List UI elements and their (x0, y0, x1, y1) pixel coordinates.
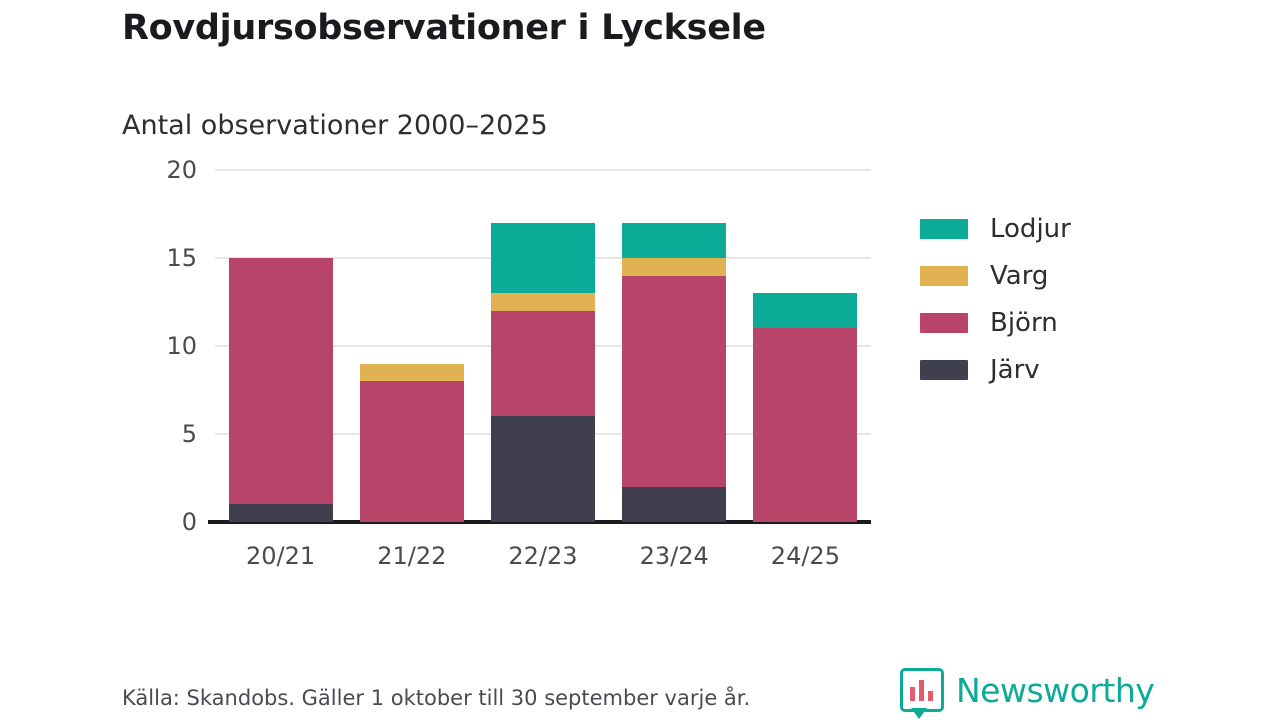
bar-segment[interactable] (229, 504, 333, 522)
bar-segment[interactable] (622, 258, 726, 276)
chart-subtitle: Antal observationer 2000–2025 (122, 110, 548, 141)
legend-item[interactable]: Lodjur (920, 205, 1220, 252)
x-axis-tick-label: 24/25 (735, 542, 875, 570)
bar-group[interactable] (229, 170, 333, 522)
plot-area: 0510152020/2121/2222/2323/2424/25 (215, 170, 871, 522)
legend-swatch (920, 313, 968, 333)
y-axis-tick-label: 10 (127, 332, 197, 360)
bar-segment[interactable] (622, 223, 726, 258)
x-axis-tick-label: 23/24 (604, 542, 744, 570)
bar-segment[interactable] (753, 293, 857, 328)
bar-group[interactable] (360, 170, 464, 522)
page-title: Rovdjursobservationer i Lycksele (122, 8, 766, 48)
legend-label: Björn (990, 308, 1058, 338)
source-note: Källa: Skandobs. Gäller 1 oktober till 3… (122, 686, 750, 710)
legend-label: Lodjur (990, 214, 1071, 244)
legend-item[interactable]: Varg (920, 252, 1220, 299)
bar-segment[interactable] (491, 311, 595, 417)
legend-swatch (920, 219, 968, 239)
x-axis-tick-label: 20/21 (211, 542, 351, 570)
y-axis-tick-label: 0 (127, 508, 197, 536)
bar-group[interactable] (753, 170, 857, 522)
brand-logo: Newsworthy (900, 668, 1154, 712)
bar-group[interactable] (491, 170, 595, 522)
legend-label: Varg (990, 261, 1048, 291)
bar-segment[interactable] (622, 276, 726, 487)
bar-group[interactable] (622, 170, 726, 522)
bar-segment[interactable] (491, 293, 595, 311)
x-axis-tick-label: 21/22 (342, 542, 482, 570)
brand-name: Newsworthy (956, 671, 1154, 710)
y-axis-tick-label: 15 (127, 244, 197, 272)
bar-segment[interactable] (491, 223, 595, 293)
legend-swatch (920, 266, 968, 286)
bar-segment[interactable] (753, 328, 857, 522)
legend-label: Järv (990, 355, 1040, 385)
legend-swatch (920, 360, 968, 380)
newsworthy-icon (900, 668, 944, 712)
x-axis-tick-label: 22/23 (473, 542, 613, 570)
bar-segment[interactable] (622, 487, 726, 522)
legend-item[interactable]: Järv (920, 346, 1220, 393)
chart-page: Rovdjursobservationer i Lycksele Antal o… (0, 0, 1280, 720)
bar-segment[interactable] (360, 364, 464, 382)
bar-segment[interactable] (491, 416, 595, 522)
legend-item[interactable]: Björn (920, 299, 1220, 346)
y-axis-tick-label: 5 (127, 420, 197, 448)
chart-legend: LodjurVargBjörnJärv (920, 205, 1220, 393)
bar-segment[interactable] (229, 258, 333, 504)
bar-segment[interactable] (360, 381, 464, 522)
y-axis-tick-label: 20 (127, 156, 197, 184)
